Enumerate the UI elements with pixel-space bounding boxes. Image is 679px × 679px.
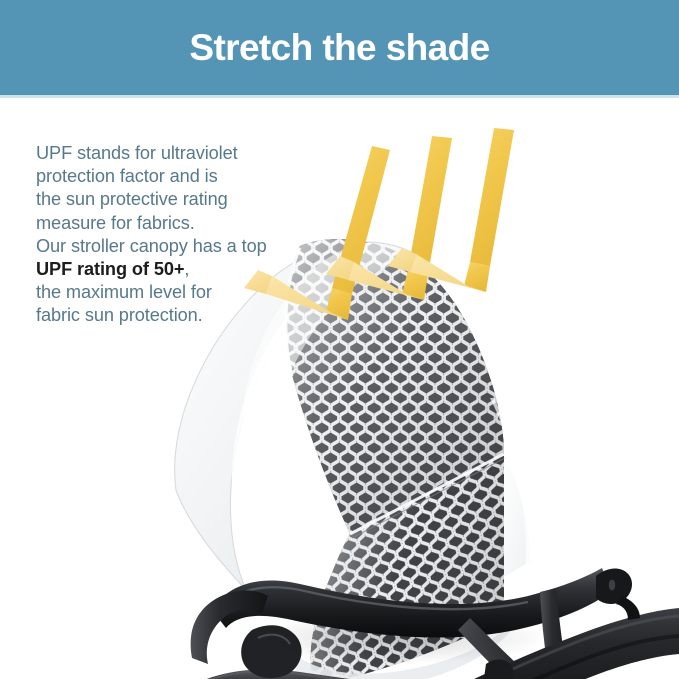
copy-line-4: measure for fabrics. [36, 212, 336, 235]
copy-line-5: Our stroller canopy has a top [36, 235, 336, 258]
copy-line-6-emphasis: UPF rating of 50+, [36, 258, 336, 281]
copy-line-8: fabric sun protection. [36, 304, 336, 327]
copy-line-7: the maximum level for [36, 281, 336, 304]
copy-line-1: UPF stands for ultraviolet [36, 142, 336, 165]
upf-rating-comma: , [184, 259, 189, 279]
header-banner: Stretch the shade [0, 0, 679, 95]
uv-arrow-3 [388, 128, 514, 292]
page-title: Stretch the shade [189, 29, 489, 66]
product-feature-card: Stretch the shade [0, 0, 679, 679]
copy-line-3: the sun protective rating [36, 188, 336, 211]
upf-rating-value: UPF rating of 50+ [36, 259, 184, 279]
copy-line-2: protection factor and is [36, 165, 336, 188]
body-copy-block: UPF stands for ultraviolet protection fa… [36, 142, 336, 328]
